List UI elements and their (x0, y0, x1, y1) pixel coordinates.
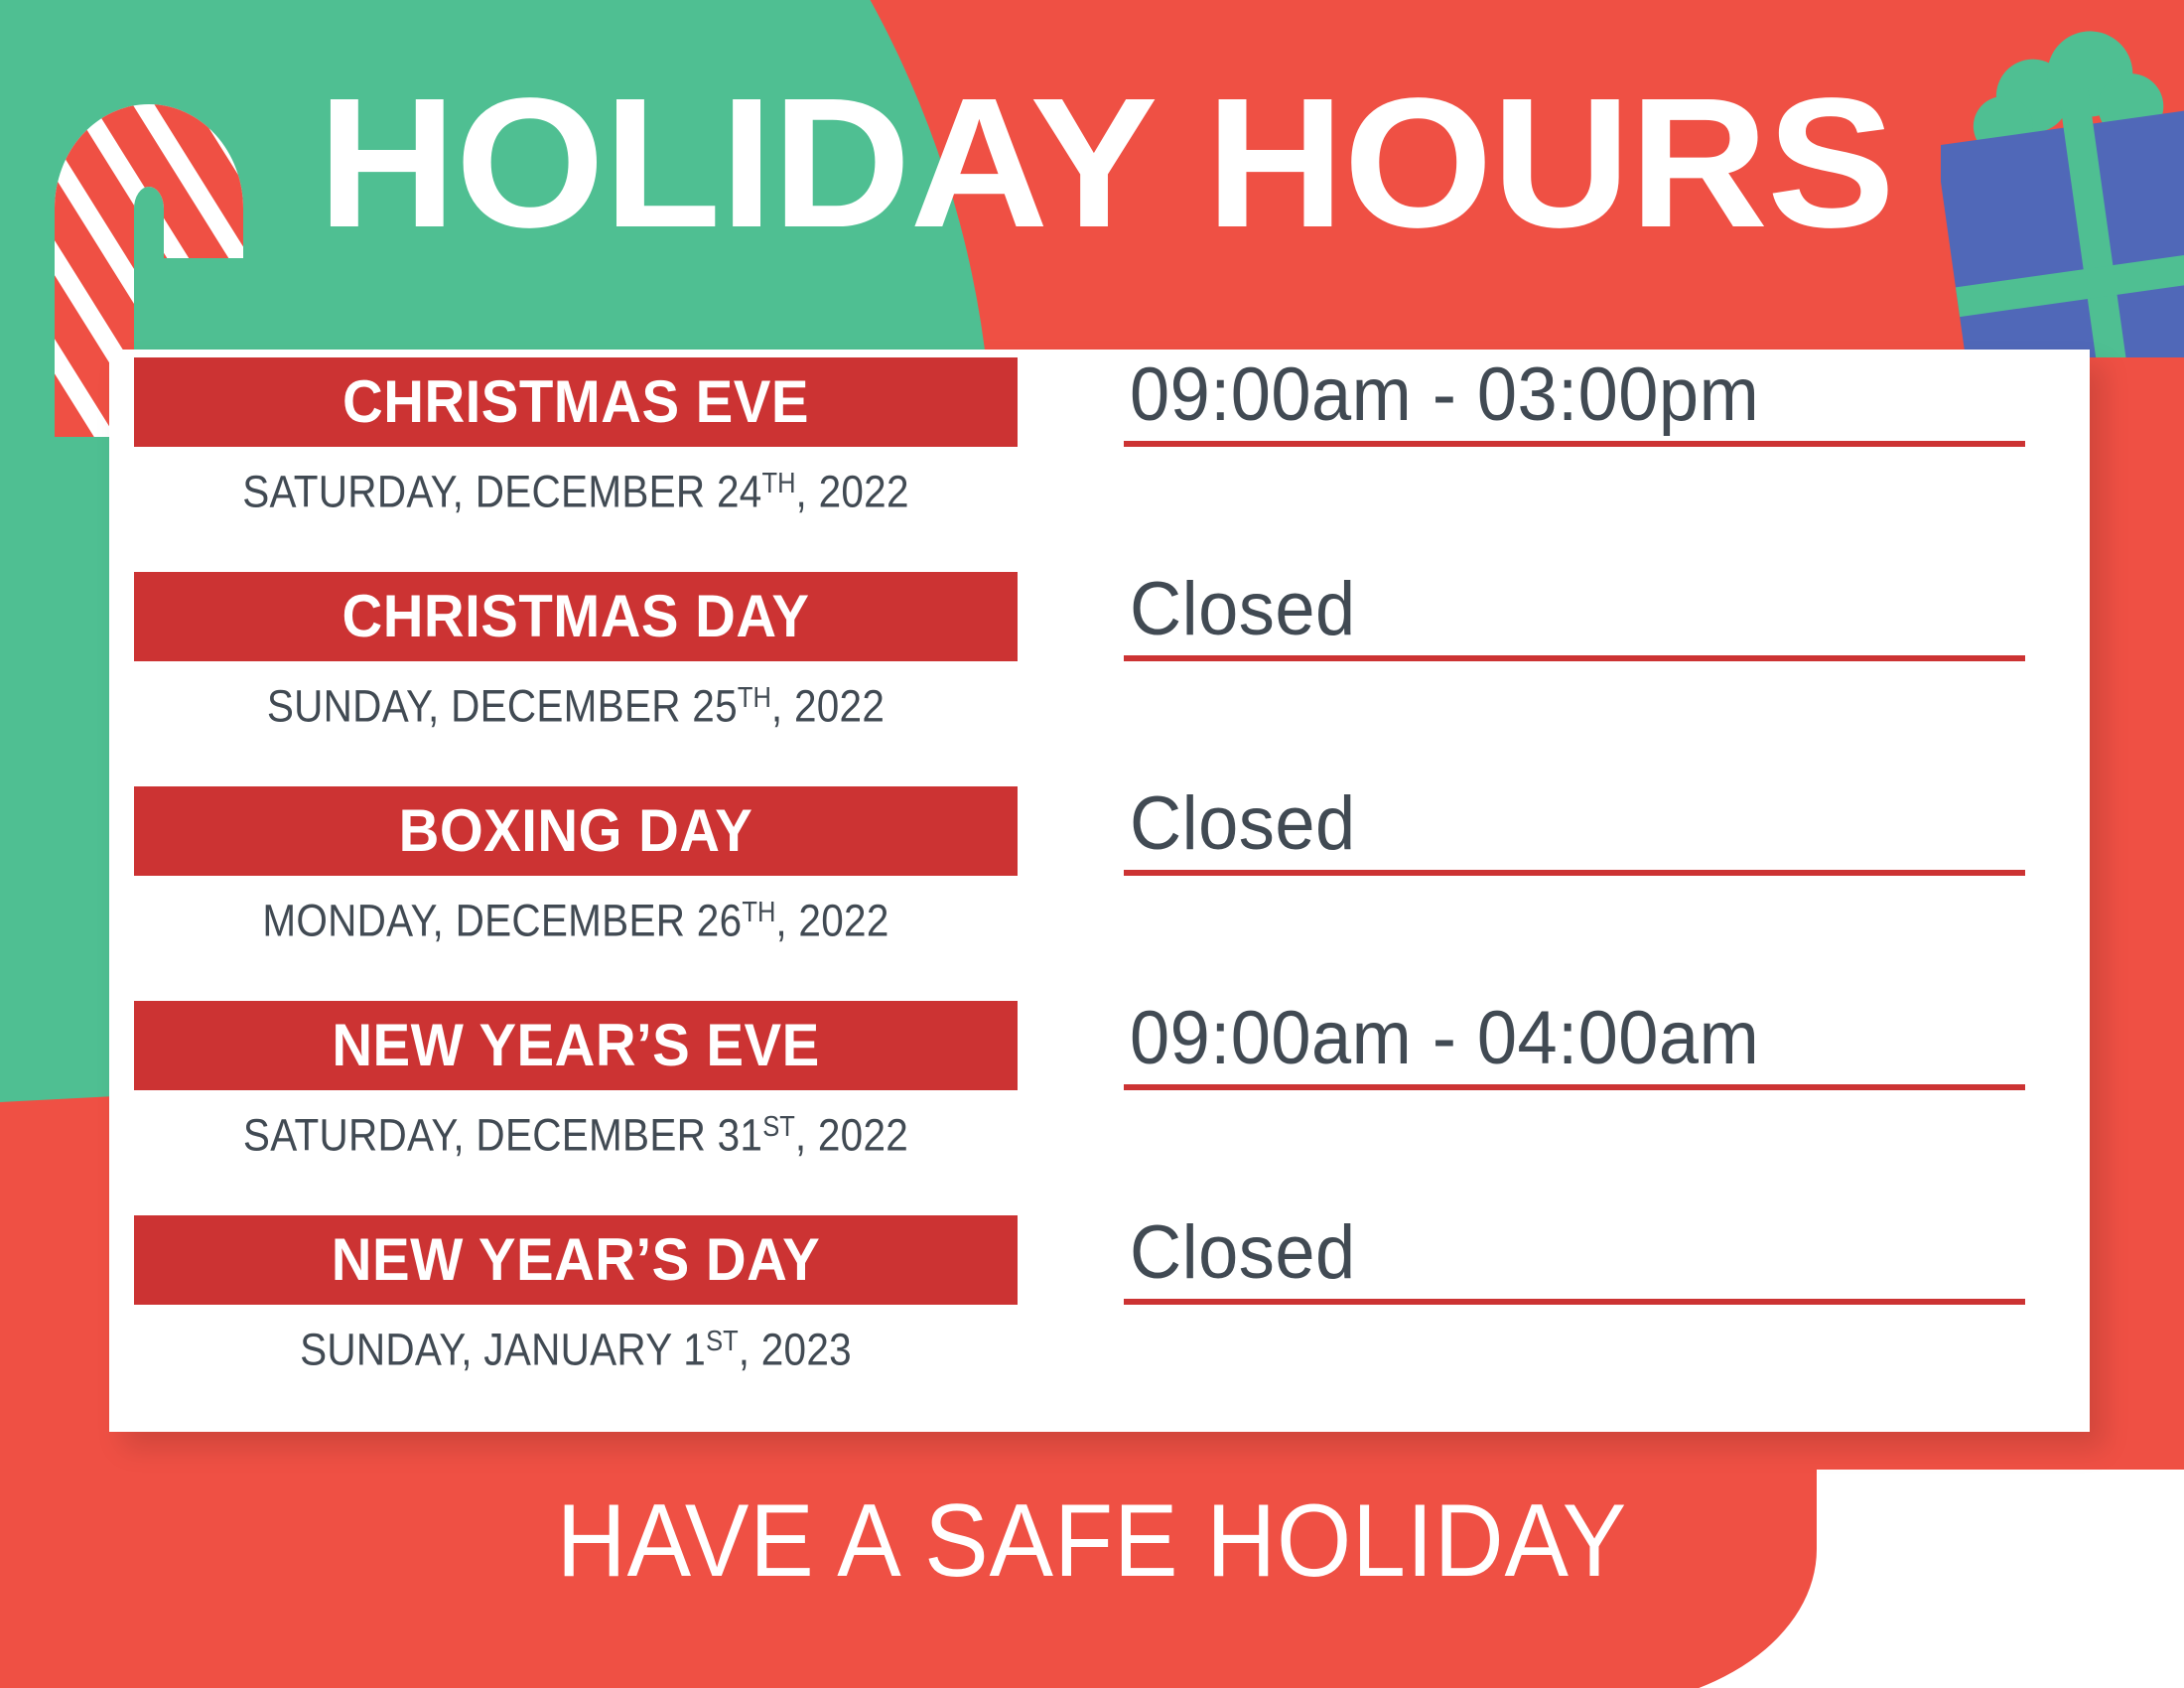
hours-underline (1124, 1299, 2025, 1305)
holiday-date: SATURDAY, DECEMBER 24TH, 2022 (179, 453, 974, 514)
holiday-hours: Closed (1130, 773, 2184, 876)
holiday-name: BOXING DAY (161, 786, 992, 876)
hours-underline (1124, 655, 2025, 661)
holiday-date-ordinal: TH (742, 897, 775, 928)
holiday-date-suffix: , 2022 (796, 467, 909, 517)
schedule-row: CHRISTMAS EVE SATURDAY, DECEMBER 24TH, 2… (109, 350, 2090, 564)
schedule-row: CHRISTMAS DAY SUNDAY, DECEMBER 25TH, 202… (109, 564, 2090, 778)
schedule-row: BOXING DAY MONDAY, DECEMBER 26TH, 2022 C… (109, 778, 2090, 993)
holiday-date-suffix: , 2022 (795, 1110, 908, 1161)
holiday-date-prefix: MONDAY, DECEMBER 26 (262, 896, 742, 946)
hours-underline (1124, 441, 2025, 447)
holiday-name: NEW YEAR’S EVE (161, 1001, 992, 1090)
holiday-date: SUNDAY, JANUARY 1ST, 2023 (179, 1311, 974, 1372)
footer-message: HAVE A SAFE HOLIDAY (76, 1481, 2108, 1601)
schedule-row: NEW YEAR’S DAY SUNDAY, JANUARY 1ST, 2023… (109, 1207, 2090, 1422)
holiday-date: SUNDAY, DECEMBER 25TH, 2022 (179, 667, 974, 729)
page-title: HOLIDAY HOURS (318, 71, 2011, 260)
holiday-date-prefix: SUNDAY, JANUARY 1 (300, 1325, 706, 1375)
holiday-date: MONDAY, DECEMBER 26TH, 2022 (179, 882, 974, 943)
holiday-date-ordinal: ST (706, 1326, 739, 1357)
hours-underline (1124, 1084, 2025, 1090)
holiday-date: SATURDAY, DECEMBER 31ST, 2022 (179, 1096, 974, 1158)
holiday-date-suffix: , 2023 (739, 1325, 852, 1375)
holiday-date-suffix: , 2022 (771, 681, 885, 732)
schedule-row: NEW YEAR’S EVE SATURDAY, DECEMBER 31ST, … (109, 993, 2090, 1207)
holiday-hours: Closed (1130, 1201, 2184, 1305)
holiday-hours: 09:00am - 03:00pm (1130, 344, 2184, 447)
holiday-hours-poster: HOLIDAY HOURS CHRISTMAS EVE SATURDAY, DE… (0, 0, 2184, 1688)
schedule-rows: CHRISTMAS EVE SATURDAY, DECEMBER 24TH, 2… (109, 350, 2090, 1432)
holiday-date-prefix: SATURDAY, DECEMBER 31 (243, 1110, 762, 1161)
holiday-date-prefix: SATURDAY, DECEMBER 24 (242, 467, 761, 517)
holiday-date-ordinal: TH (738, 682, 771, 714)
holiday-name: CHRISTMAS EVE (161, 357, 992, 447)
holiday-date-suffix: , 2022 (775, 896, 888, 946)
holiday-hours: Closed (1130, 558, 2184, 661)
holiday-date-ordinal: ST (762, 1111, 795, 1143)
holiday-date-prefix: SUNDAY, DECEMBER 25 (267, 681, 738, 732)
hours-underline (1124, 870, 2025, 876)
schedule-card: CHRISTMAS EVE SATURDAY, DECEMBER 24TH, 2… (109, 350, 2090, 1432)
holiday-name: NEW YEAR’S DAY (161, 1215, 992, 1305)
holiday-name: CHRISTMAS DAY (161, 572, 992, 661)
holiday-hours: 09:00am - 04:00am (1130, 987, 2184, 1090)
holiday-date-ordinal: TH (762, 468, 796, 499)
